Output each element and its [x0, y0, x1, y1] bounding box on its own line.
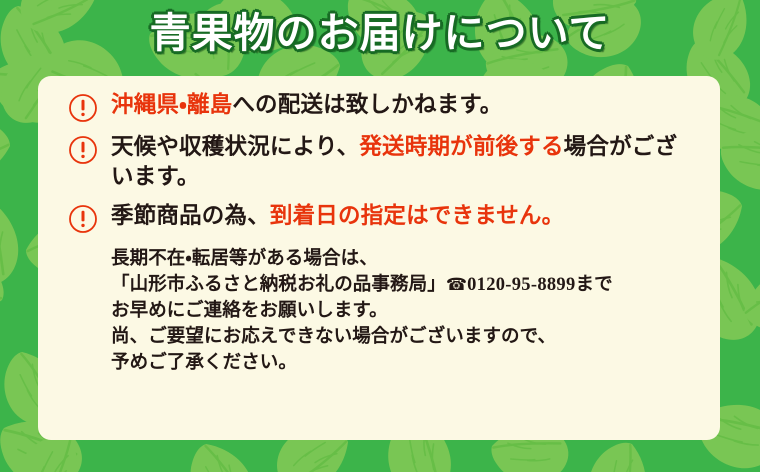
exclamation-circle-icon: [68, 135, 98, 165]
notice-text: 天候や収穫状況により、発送時期が前後する場合がございます。: [111, 132, 698, 192]
exclamation-circle-icon: [68, 93, 98, 123]
list-item: 沖縄県・離島への配送は致しかねます。: [68, 90, 698, 123]
notice-highlight: 到着日の指定はできません。: [270, 203, 564, 228]
office-name: 「山形市ふるさと納税お礼の品事務局」: [111, 275, 446, 295]
footer-line-2: 「山形市ふるさと納税お礼の品事務局」☎0120-95-8899まで: [111, 272, 698, 298]
notice-text: 沖縄県・離島への配送は致しかねます。: [111, 90, 698, 120]
footer-line-5: 予めご了承ください。: [111, 350, 698, 376]
banner-title-container: 青果物のお届けについて: [0, 8, 760, 58]
notice-plain: への配送は致しかねます。: [232, 92, 502, 117]
footer-line-2-suffix: まで: [576, 275, 613, 295]
footer-line-3: お早めにご連絡をお願いします。: [111, 298, 698, 324]
page-title: 青果物のお届けについて: [150, 8, 611, 58]
notice-highlight: 沖縄県・離島: [111, 92, 232, 117]
delivery-notice-banner: 青果物のお届けについて 沖縄県・離島への配送は致しかねます。: [0, 0, 760, 472]
telephone-number: 0120-95-8899: [467, 275, 575, 295]
telephone-icon: ☎: [446, 275, 467, 295]
notice-list: 沖縄県・離島への配送は致しかねます。 天候や収穫状況により、発送時期が前後する場…: [68, 90, 698, 234]
footer-line-4: 尚、ご要望にお応えできない場合がございますので、: [111, 324, 698, 350]
list-item: 季節商品の為、到着日の指定はできません。: [68, 201, 698, 234]
notice-card: 沖縄県・離島への配送は致しかねます。 天候や収穫状況により、発送時期が前後する場…: [38, 76, 720, 440]
footer-note: 長期不在・転居等がある場合は、 「山形市ふるさと納税お礼の品事務局」☎0120-…: [111, 246, 698, 376]
notice-plain: 季節商品の為、: [111, 203, 270, 228]
exclamation-circle-icon: [68, 204, 98, 234]
notice-text: 季節商品の為、到着日の指定はできません。: [111, 201, 698, 231]
footer-line-1: 長期不在・転居等がある場合は、: [111, 246, 698, 272]
list-item: 天候や収穫状況により、発送時期が前後する場合がございます。: [68, 132, 698, 192]
notice-highlight: 発送時期が前後する: [359, 134, 563, 159]
notice-plain: 天候や収穫状況により、: [111, 134, 359, 159]
